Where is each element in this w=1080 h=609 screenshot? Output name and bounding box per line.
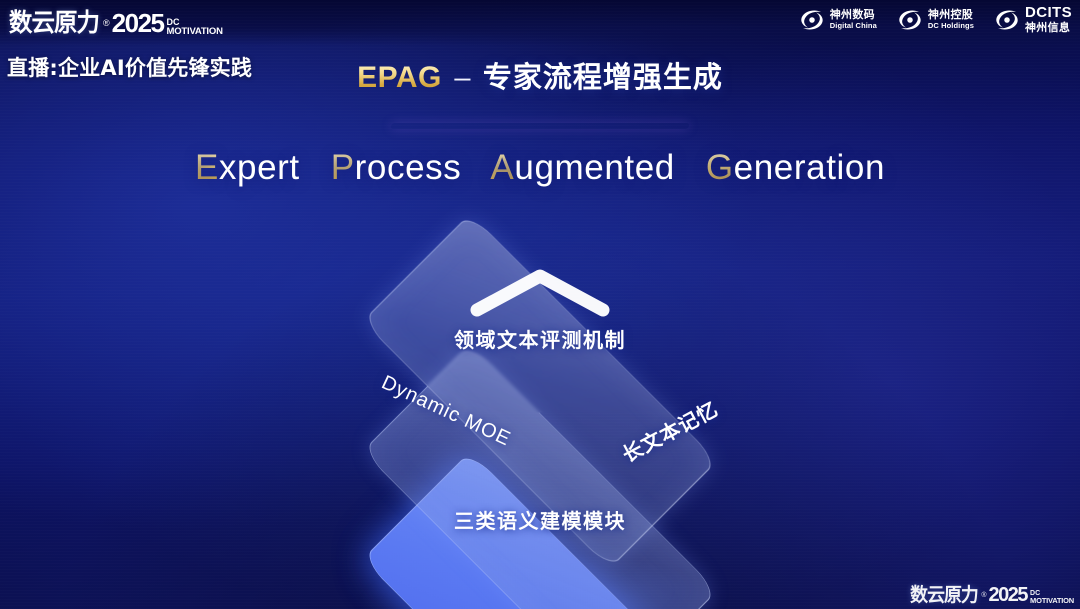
footer-brand-dc-motivation: DC MOTIVATION	[1030, 590, 1074, 605]
partner-logo-dcits: DCITS 神州信息	[994, 5, 1072, 34]
brand-year: 2025	[112, 8, 164, 39]
subtitle-initial-p: P	[331, 148, 355, 187]
subtitle-space-3	[685, 148, 695, 187]
brand-dc-motivation: DC MOTIVATION	[167, 18, 223, 37]
slide-canvas: 数云原力 ® 2025 DC MOTIVATION 直播:企业AI价值先锋实践 …	[0, 0, 1080, 609]
diagram-label-bottom: 三类语义建模模块	[454, 505, 626, 534]
title-divider	[390, 123, 689, 129]
subtitle-space-1	[310, 148, 320, 187]
subtitle-initial-e: E	[195, 148, 219, 187]
partner-logo-digital-china: 神州数码 Digital China	[799, 9, 877, 31]
subtitle-rest-augmented: ugmented	[514, 148, 674, 187]
partner-name-cn: 神州控股	[928, 9, 974, 21]
partner-logo-dc-holdings: 神州控股 DC Holdings	[897, 9, 974, 31]
partner-label-group: DCITS 神州信息	[1025, 5, 1072, 34]
layered-architecture-diagram: 领域文本评测机制 Dynamic MOE 长文本记忆 三类语义建模模块	[290, 228, 790, 568]
swirl-icon	[897, 9, 923, 31]
footer-brand-name-cn: 数云原力	[911, 580, 979, 607]
subtitle-space-2	[472, 148, 482, 187]
footer-brand-dc-line2: MOTIVATION	[1030, 597, 1074, 605]
swirl-icon	[994, 9, 1020, 31]
title-acronym: EPAG	[357, 61, 442, 94]
partner-name-en: Digital China	[830, 22, 877, 30]
brand-logo: 数云原力 ® 2025 DC MOTIVATION	[6, 3, 223, 39]
title-chinese: 专家流程增强生成	[483, 60, 723, 94]
subtitle-word-process: Process	[331, 148, 462, 187]
subtitle-initial-a: A	[490, 148, 514, 187]
brand-dc-line2: MOTIVATION	[167, 27, 223, 37]
subtitle-initial-g: G	[706, 148, 734, 187]
subtitle-word-augmented: Augmented	[490, 148, 674, 187]
partner-label-group: 神州控股 DC Holdings	[928, 9, 974, 30]
subtitle: Expert Process Augmented Generation	[0, 148, 1080, 188]
footer-brand-logo: 数云原力 ® 2025 DC MOTIVATION	[908, 580, 1074, 607]
subtitle-word-expert: Expert	[195, 148, 300, 187]
partner-label-group: 神州数码 Digital China	[830, 9, 877, 30]
partner-name-en: DC Holdings	[928, 22, 974, 30]
diagram-label-top: 领域文本评测机制	[454, 324, 626, 353]
footer-brand-registered-mark: ®	[981, 592, 986, 599]
brand-name-cn: 数云原力	[9, 3, 99, 39]
brand-registered-mark: ®	[103, 18, 110, 28]
subtitle-word-generation: Generation	[706, 148, 885, 187]
chevron-up-icon	[467, 266, 613, 318]
partner-name-cn: 神州数码	[830, 9, 877, 21]
title-dash: –	[454, 62, 470, 94]
page-title: EPAG – 专家流程增强生成	[0, 54, 1080, 96]
subtitle-rest-generation: eneration	[734, 148, 885, 187]
partner-name-cn: 神州信息	[1025, 22, 1072, 34]
subtitle-rest-expert: xpert	[219, 148, 300, 187]
subtitle-rest-process: rocess	[355, 148, 462, 187]
swirl-icon	[799, 9, 825, 31]
footer-brand-year: 2025	[989, 584, 1028, 607]
partner-logo-group: 神州数码 Digital China 神州控股 DC Holdings	[799, 5, 1072, 34]
partner-name-en: DCITS	[1025, 5, 1072, 22]
